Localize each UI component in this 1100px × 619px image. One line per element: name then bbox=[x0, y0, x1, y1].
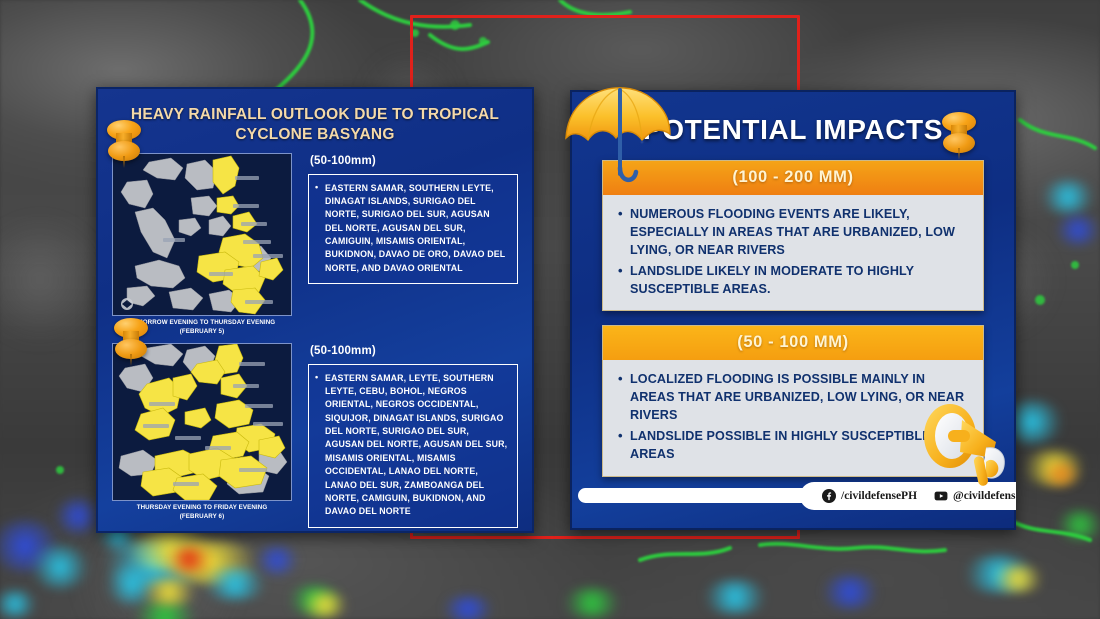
rainfall-outlook-panel: HEAVY RAINFALL OUTLOOK DUE TO TROPICAL C… bbox=[96, 87, 534, 533]
pushpin-icon-left bbox=[105, 120, 145, 166]
rainfall-map-1 bbox=[112, 153, 292, 316]
caption-line-1: THURSDAY EVENING TO FRIDAY EVENING bbox=[137, 504, 268, 511]
radar-echo bbox=[138, 578, 200, 606]
umbrella-icon bbox=[558, 82, 680, 194]
radar-echo bbox=[55, 498, 101, 534]
info-column-2: (50-100mm) EASTERN SAMAR, LEYTE, SOUTHER… bbox=[302, 343, 518, 528]
forecast-row-2: THURSDAY EVENING TO FRIDAY EVENING (FEBR… bbox=[98, 343, 532, 528]
radar-echo bbox=[700, 580, 770, 614]
youtube-handle[interactable]: @civildefens bbox=[953, 490, 1015, 502]
radar-echo bbox=[300, 592, 350, 618]
pushpin-icon-left-2 bbox=[112, 318, 152, 364]
radar-echo bbox=[1040, 462, 1082, 486]
map-column-1: TOMORROW EVENING TO THURSDAY EVENING (FE… bbox=[112, 153, 302, 337]
radar-echo bbox=[30, 545, 90, 589]
radar-echo bbox=[172, 548, 206, 570]
radar-echo bbox=[255, 545, 299, 575]
map-caption-2: THURSDAY EVENING TO FRIDAY EVENING (FEBR… bbox=[112, 504, 292, 522]
impact-bullet: LOCALIZED FLOODING IS POSSIBLE MAINLY IN… bbox=[617, 371, 969, 425]
rainfall-map-2 bbox=[112, 343, 292, 501]
social-bar-stripe bbox=[578, 488, 828, 503]
rainfall-amount-label-1: (50-100mm) bbox=[310, 155, 518, 167]
forecast-row-1: TOMORROW EVENING TO THURSDAY EVENING (FE… bbox=[98, 153, 532, 337]
facebook-icon[interactable] bbox=[822, 489, 836, 503]
map-column-2: THURSDAY EVENING TO FRIDAY EVENING (FEBR… bbox=[112, 343, 302, 528]
radar-echo bbox=[560, 588, 624, 618]
youtube-icon[interactable] bbox=[934, 489, 948, 503]
philippines-map-graphic-2 bbox=[113, 344, 292, 501]
facebook-handle[interactable]: /civildefensePH bbox=[841, 490, 917, 502]
infographic-screenshot: HEAVY RAINFALL OUTLOOK DUE TO TROPICAL C… bbox=[0, 0, 1100, 619]
radar-echo bbox=[440, 596, 496, 619]
caption-line-2: (FEBRUARY 5) bbox=[180, 328, 225, 335]
affected-areas-text-1: EASTERN SAMAR, SOUTHERN LEYTE, DINAGAT I… bbox=[315, 182, 509, 276]
left-panel-title: HEAVY RAINFALL OUTLOOK DUE TO TROPICAL C… bbox=[120, 105, 510, 145]
affected-areas-box-1: EASTERN SAMAR, SOUTHERN LEYTE, DINAGAT I… bbox=[308, 174, 518, 285]
caption-line-2: (FEBRUARY 6) bbox=[180, 513, 225, 520]
megaphone-icon bbox=[920, 396, 1020, 490]
radar-echo bbox=[200, 568, 270, 600]
impact-bullet: LANDSLIDE LIKELY IN MODERATE TO HIGHLY S… bbox=[617, 263, 969, 299]
radar-echo bbox=[1055, 215, 1100, 245]
pushpin-icon-right bbox=[940, 112, 980, 158]
radar-echo bbox=[1040, 180, 1096, 214]
impact-card-body-1: NUMEROUS FLOODING EVENTS ARE LIKELY, ESP… bbox=[603, 195, 983, 310]
affected-areas-text-2: EASTERN SAMAR, LEYTE, SOUTHERN LEYTE, CE… bbox=[315, 372, 509, 519]
philippines-map-graphic-1 bbox=[113, 154, 292, 316]
radar-echo bbox=[1055, 510, 1100, 540]
impact-card-header-2: (50 - 100 MM) bbox=[603, 326, 983, 360]
radar-echo bbox=[820, 575, 880, 609]
radar-echo bbox=[990, 565, 1046, 593]
info-column-1: (50-100mm) EASTERN SAMAR, SOUTHERN LEYTE… bbox=[302, 153, 518, 337]
affected-areas-box-2: EASTERN SAMAR, LEYTE, SOUTHERN LEYTE, CE… bbox=[308, 364, 518, 528]
rainfall-amount-label-2: (50-100mm) bbox=[310, 345, 518, 357]
impact-bullet: LANDSLIDE POSSIBLE IN HIGHLY SUSCEPTIBLE… bbox=[617, 428, 969, 464]
impact-bullet: NUMEROUS FLOODING EVENTS ARE LIKELY, ESP… bbox=[617, 206, 969, 260]
